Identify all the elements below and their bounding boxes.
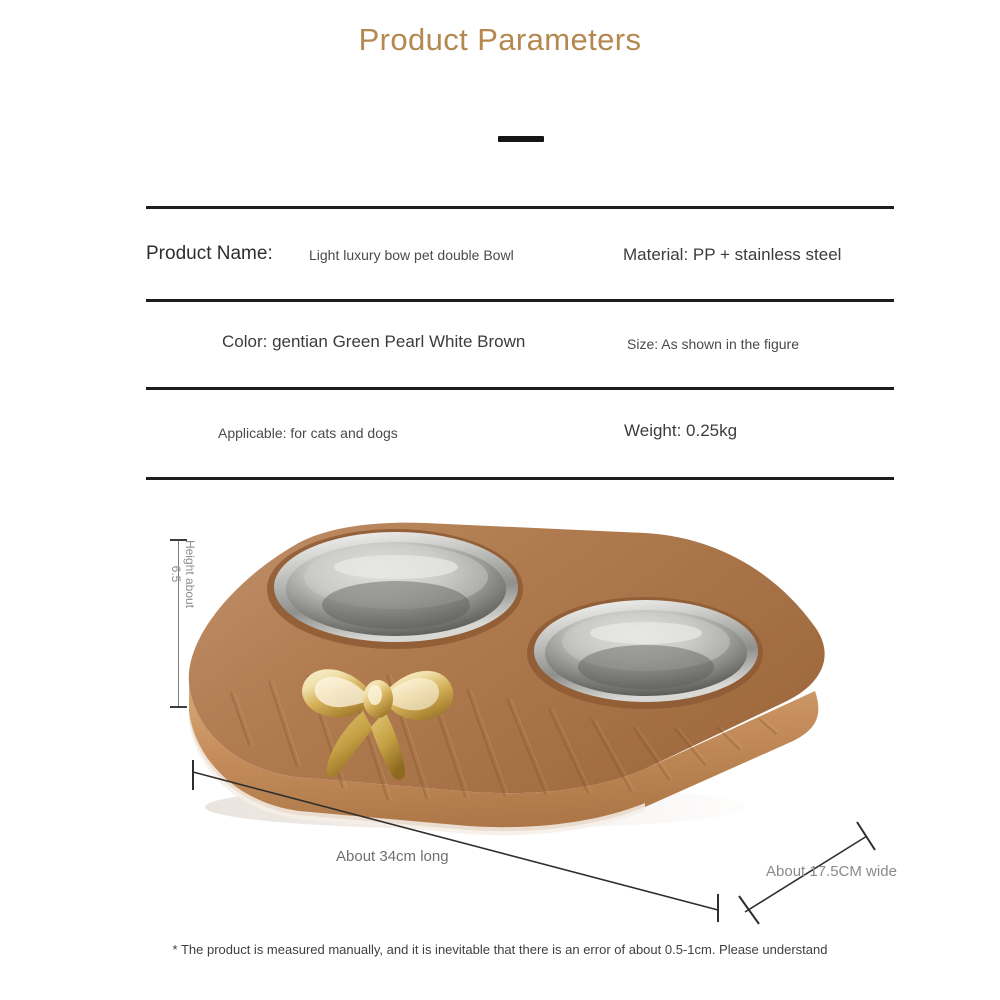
table-row: Product Name: Light luxury bow pet doubl… <box>146 209 894 299</box>
length-dimension-label: About 34cm long <box>336 848 449 865</box>
spec-value-size: Size: As shown in the figure <box>627 336 799 352</box>
left-bowl-depth <box>322 581 470 629</box>
table-rule-bottom <box>146 477 894 480</box>
length-dimension <box>190 758 725 923</box>
length-dimension-line <box>193 772 718 910</box>
right-bowl-reflection <box>590 622 702 644</box>
bow-knot-highlight <box>368 685 382 705</box>
table-row: Color: gentian Green Pearl White Brown S… <box>146 302 894 387</box>
spec-value-product-name: Light luxury bow pet double Bowl <box>309 247 514 263</box>
spec-value-applicable: Applicable: for cats and dogs <box>218 425 398 441</box>
spec-value-color: Color: gentian Green Pearl White Brown <box>222 332 525 352</box>
title-divider <box>498 136 544 142</box>
spec-table: Product Name: Light luxury bow pet doubl… <box>146 206 894 480</box>
product-parameters-page: Product Parameters Product Name: Light l… <box>0 0 1000 1000</box>
left-bowl-reflection <box>334 555 458 579</box>
table-row: Applicable: for cats and dogs Weight: 0.… <box>146 390 894 477</box>
spec-value-material: Material: PP + stainless steel <box>623 245 841 265</box>
spec-label-product-name: Product Name: <box>146 243 273 265</box>
width-dimension-cap-top <box>857 822 875 850</box>
spec-value-weight: Weight: 0.25kg <box>624 421 737 441</box>
right-bowl-depth <box>578 645 714 689</box>
width-dimension-label: About 17.5CM wide <box>766 863 897 880</box>
page-title: Product Parameters <box>0 22 1000 58</box>
measurement-disclaimer: * The product is measured manually, and … <box>0 942 1000 957</box>
